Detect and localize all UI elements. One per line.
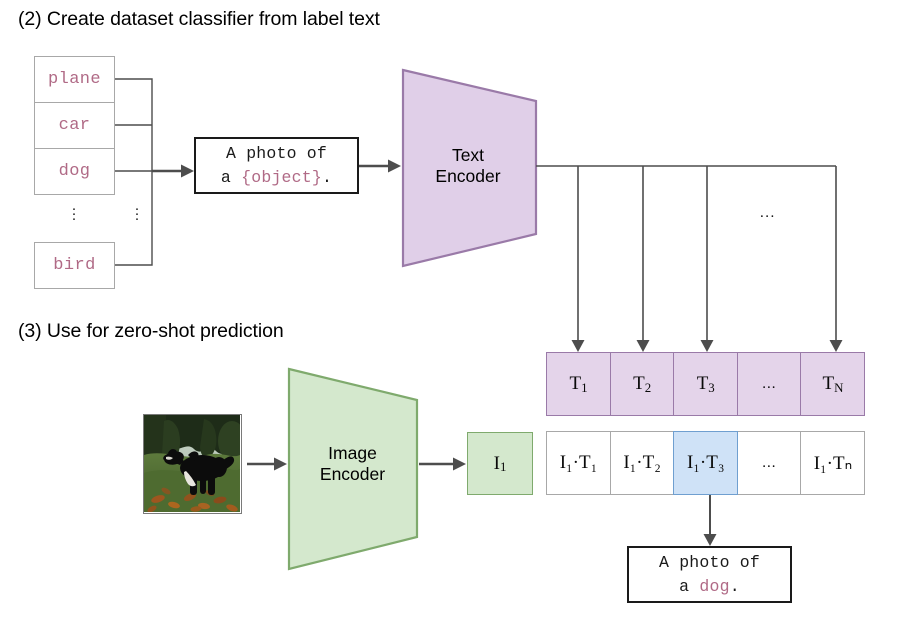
prediction-line1: A photo of bbox=[659, 551, 760, 575]
prediction-result-box[interactable]: A photo of a dog. bbox=[627, 546, 792, 603]
similarity-cell-3-selected[interactable]: I₁·T₃ bbox=[673, 431, 738, 495]
similarity-cell-text: I₁·T₃ bbox=[687, 452, 725, 474]
clip-zero-shot-diagram: (2) Create dataset classifier from label… bbox=[0, 0, 906, 624]
prediction-class: dog bbox=[699, 577, 729, 596]
prediction-prefix: a bbox=[679, 577, 699, 596]
prediction-line2: a dog. bbox=[679, 575, 740, 599]
arrow-selected-score-to-result bbox=[0, 0, 906, 624]
prediction-suffix: . bbox=[730, 577, 740, 596]
